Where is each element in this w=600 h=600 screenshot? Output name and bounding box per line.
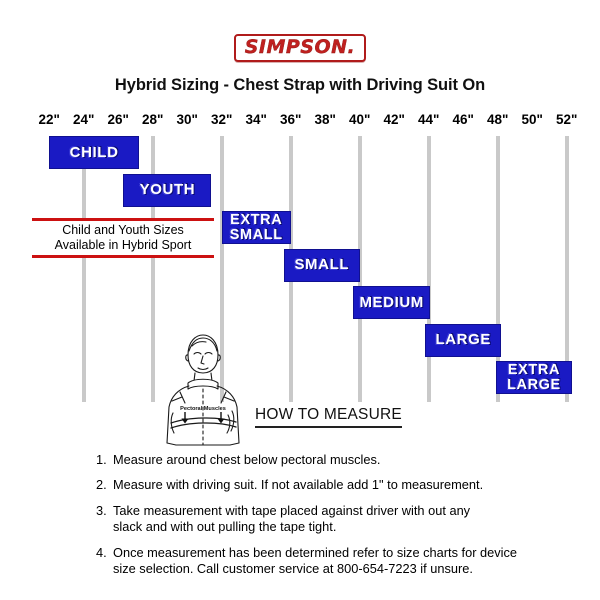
scale-tick-44: 44": [418, 112, 439, 127]
size-bar-extra-large[interactable]: EXTRA LARGE: [496, 361, 572, 394]
logo-box: SIMPSON.: [234, 34, 367, 62]
page-title: Hybrid Sizing - Chest Strap with Driving…: [0, 76, 600, 95]
size-bar-large[interactable]: LARGE: [425, 324, 501, 357]
instruction-text-line-2: slack and with out pulling the tape tigh…: [113, 519, 556, 535]
instruction-text: Once measurement has been determined ref…: [113, 545, 556, 578]
brand-logo: SIMPSON.: [0, 34, 600, 62]
logo-text: SIMPSON.: [245, 38, 356, 57]
size-bar-label: EXTRA LARGE: [507, 363, 561, 393]
size-bar-small[interactable]: SMALL: [284, 249, 360, 282]
instruction-text-line-1: Measure around chest below pectoral musc…: [113, 452, 380, 467]
scale-tick-50: 50": [522, 112, 543, 127]
instruction-text-line-2: size selection. Call customer service at…: [113, 561, 556, 577]
instruction-text: Measure around chest below pectoral musc…: [113, 452, 556, 468]
instruction-number: 3.: [96, 503, 113, 519]
size-bar-label: EXTRA SMALL: [230, 213, 283, 243]
instruction-number: 2.: [96, 477, 113, 493]
scale-tick-26: 26": [108, 112, 129, 127]
scale-tick-38: 38": [315, 112, 336, 127]
instruction-text-line-1: Once measurement has been determined ref…: [113, 545, 517, 560]
scale-tick-24: 24": [73, 112, 94, 127]
scale-tick-28: 28": [142, 112, 163, 127]
size-bar-label: LARGE: [435, 332, 491, 347]
instruction-item: 2.Measure with driving suit. If not avai…: [96, 477, 556, 493]
instruction-item: 1.Measure around chest below pectoral mu…: [96, 452, 556, 468]
measurement-instructions-list: 1.Measure around chest below pectoral mu…: [96, 452, 556, 586]
scale-tick-30: 30": [177, 112, 198, 127]
size-bar-child[interactable]: CHILD: [49, 136, 139, 169]
instruction-number: 4.: [96, 545, 113, 561]
instruction-text: Measure with driving suit. If not availa…: [113, 477, 556, 493]
size-bar-extra-small[interactable]: EXTRA SMALL: [222, 211, 291, 244]
size-bar-medium[interactable]: MEDIUM: [353, 286, 431, 319]
availability-note-line-1: Child and Youth Sizes: [32, 223, 214, 238]
size-bar-label: CHILD: [70, 145, 119, 160]
scale-tick-32: 32": [211, 112, 232, 127]
scale-tick-42: 42": [384, 112, 405, 127]
scale-tick-34: 34": [246, 112, 267, 127]
scale-tick-46: 46": [453, 112, 474, 127]
driver-measurement-illustration: Pectoral Muscles: [158, 331, 248, 449]
instruction-number: 1.: [96, 452, 113, 468]
size-bar-youth[interactable]: YOUTH: [123, 174, 211, 207]
pectoral-muscles-label: Pectoral Muscles: [180, 406, 226, 412]
size-bar-label: YOUTH: [140, 182, 196, 197]
how-to-measure-heading: HOW TO MEASURE: [255, 406, 402, 428]
instruction-item: 4.Once measurement has been determined r…: [96, 545, 556, 578]
size-bar-label: SMALL: [294, 257, 349, 272]
driver-figure-icon: Pectoral Muscles: [158, 331, 248, 449]
size-bars-group: CHILDYOUTHEXTRA SMALLSMALLMEDIUMLARGEEXT…: [32, 136, 584, 402]
scale-tick-22: 22": [39, 112, 60, 127]
scale-tick-36: 36": [280, 112, 301, 127]
instruction-text: Take measurement with tape placed agains…: [113, 503, 556, 536]
size-bar-label: MEDIUM: [359, 295, 423, 310]
availability-note: Child and Youth Sizes Available in Hybri…: [32, 218, 214, 258]
scale-tick-48: 48": [487, 112, 508, 127]
availability-note-line-2: Available in Hybrid Sport: [32, 238, 214, 253]
instruction-item: 3.Take measurement with tape placed agai…: [96, 503, 556, 536]
sizing-chart-page: SIMPSON. Hybrid Sizing - Chest Strap wit…: [0, 0, 600, 600]
instruction-text-line-1: Take measurement with tape placed agains…: [113, 503, 470, 518]
measurement-scale-labels: 22"24"26"28"30"32"34"36"38"40"42"44"46"4…: [32, 112, 584, 134]
instruction-text-line-1: Measure with driving suit. If not availa…: [113, 477, 483, 492]
scale-tick-52: 52": [556, 112, 577, 127]
scale-tick-40: 40": [349, 112, 370, 127]
